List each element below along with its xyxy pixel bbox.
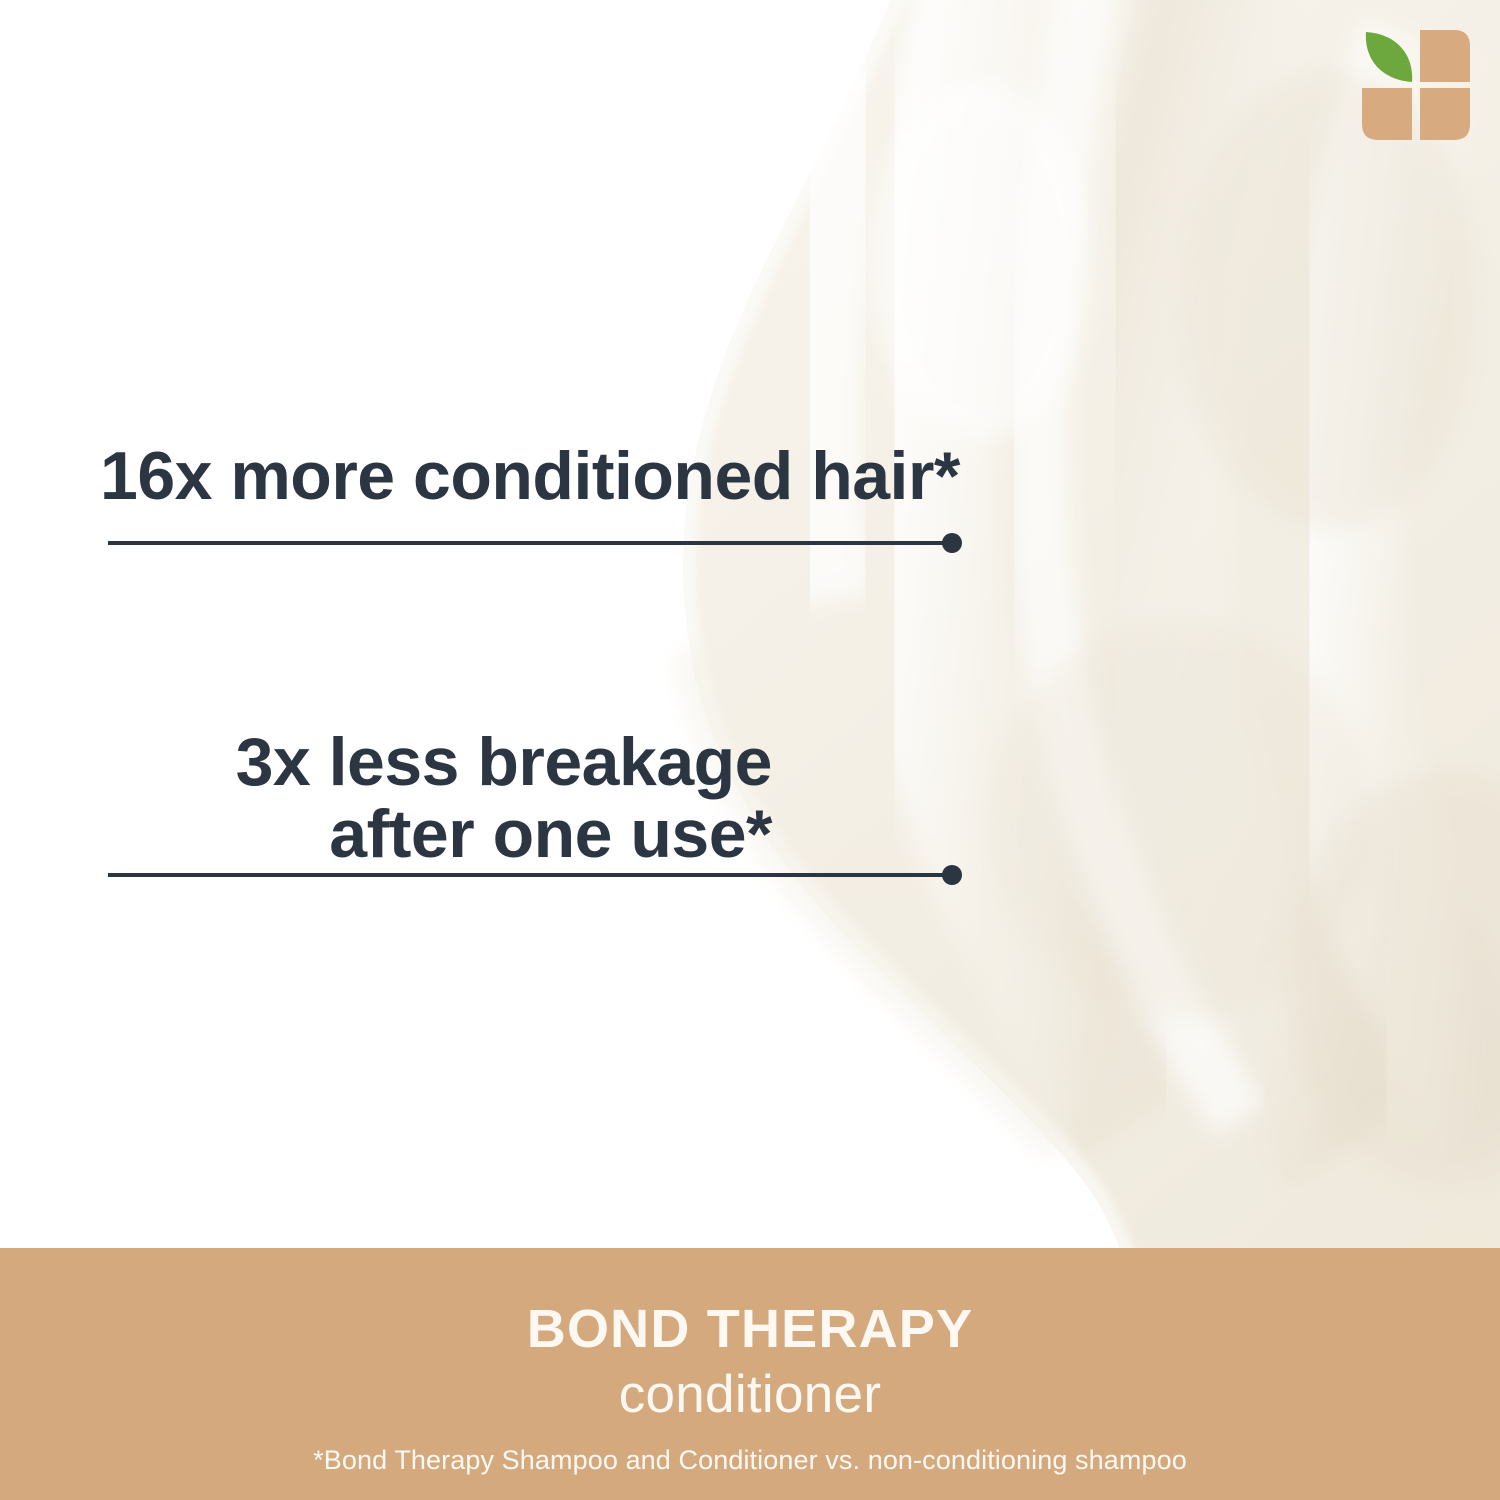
claim-text-2: 3x less breakage after one use* — [100, 726, 960, 870]
footnote: *Bond Therapy Shampoo and Conditioner vs… — [0, 1447, 1500, 1474]
rule-line — [108, 541, 952, 545]
rule-dot-icon — [942, 865, 962, 885]
rule-line — [108, 873, 952, 877]
claim-text-1: 16x more conditioned hair* — [100, 440, 960, 512]
cream-texture-background — [0, 0, 1500, 1248]
claim-rule-2 — [108, 865, 962, 885]
claim-block-1: 16x more conditioned hair* — [100, 440, 960, 512]
rule-dot-icon — [942, 533, 962, 553]
brand-logo — [1358, 26, 1474, 144]
claim-rule-1 — [108, 533, 962, 553]
product-type: conditioner — [0, 1368, 1500, 1421]
claim-block-2: 3x less breakage after one use* — [100, 726, 960, 870]
product-footer-band: BOND THERAPY conditioner *Bond Therapy S… — [0, 1248, 1500, 1500]
leaf-in-grid-logo-icon — [1358, 26, 1474, 144]
cream-swatch-shape — [0, 0, 1500, 1248]
product-name: BOND THERAPY — [0, 1302, 1500, 1356]
product-claim-graphic: 16x more conditioned hair* 3x less break… — [0, 0, 1500, 1500]
